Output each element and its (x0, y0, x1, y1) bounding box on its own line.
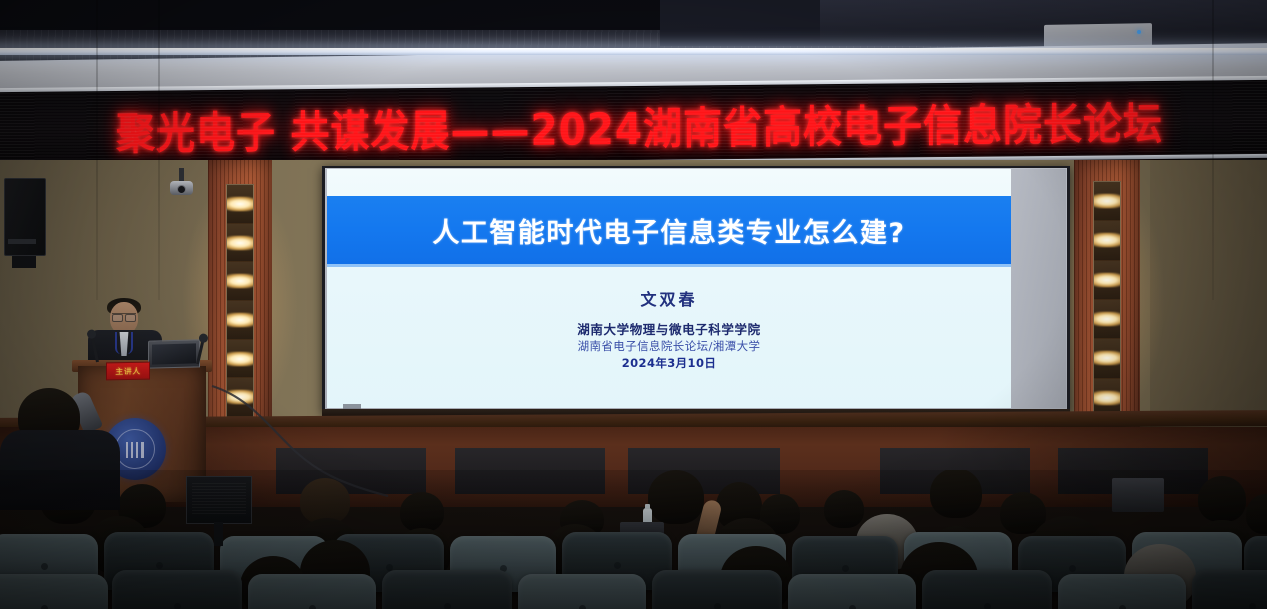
slide-title-band: 人工智能时代电子信息类专业怎么建? (327, 196, 1011, 264)
nameplate: 主讲人 (106, 362, 150, 381)
ceiling-light-strip-1 (0, 48, 1267, 55)
auditorium-seat-front (248, 574, 376, 609)
audience-head (1246, 494, 1267, 534)
auditorium-seat-front (0, 574, 108, 609)
slide-band-edge (327, 264, 1011, 267)
presentation-slide: 人工智能时代电子信息类专业怎么建? 文双春 湖南大学物理与微电子科学学院 湖南省… (327, 169, 1011, 408)
auditorium-seat-front (518, 574, 646, 609)
wall-sconce-right (1093, 181, 1121, 419)
sconce-segment (227, 224, 253, 263)
audience-head (400, 492, 444, 532)
auditorium-seat-front (1058, 574, 1186, 609)
sconce-segment (227, 262, 253, 301)
led-banner-text: 聚光电子 共谋发展——2024湖南省高校电子信息院长论坛 (116, 90, 1163, 163)
wall-seam-1 (96, 0, 98, 300)
presenter-glasses-icon (112, 313, 136, 319)
audience-head (824, 490, 864, 528)
sconce-segment (227, 301, 253, 340)
slide-date: 2024年3月10日 (327, 354, 1011, 372)
spotlight-lens-icon (177, 185, 186, 194)
auditorium-seat-front (922, 570, 1052, 609)
audience-head (930, 470, 982, 518)
sconce-segment (1094, 300, 1120, 339)
slide-title: 人工智能时代电子信息类专业怎么建? (432, 211, 905, 250)
audience-laptop-right (1112, 478, 1164, 512)
audience-head (648, 470, 704, 524)
sconce-segment (1094, 221, 1120, 260)
sconce-segment (227, 340, 253, 379)
floor-speaker-stand (214, 522, 223, 546)
sconce-segment (1094, 261, 1120, 300)
ceiling-panel-dark-1 (0, 0, 660, 30)
projection-screen-unlit-area (1011, 169, 1066, 408)
auditorium-seat-front (382, 570, 512, 609)
auditorium-seat-front (788, 574, 916, 609)
wall-seam-3 (1212, 0, 1214, 300)
sconce-segment (227, 378, 253, 417)
wall-speaker (4, 178, 46, 256)
wall-speaker-bracket (12, 256, 36, 268)
lecture-hall-photo: 聚光电子 共谋发展——2024湖南省高校电子信息院长论坛 (0, 0, 1267, 609)
sconce-segment (227, 185, 253, 224)
presenter-lanyard (115, 332, 133, 354)
auditorium-seat-front (652, 570, 782, 609)
wall-sconce-left (226, 184, 254, 418)
audience-head (1198, 476, 1246, 522)
sconce-segment (1094, 182, 1120, 221)
auditorium-seat-front (112, 570, 242, 609)
wall-seam-2 (158, 0, 160, 300)
floor-speaker (186, 476, 252, 524)
slide-affiliation-block: 湖南大学物理与微电子科学学院 湖南省电子信息院长论坛/湘潭大学 2024年3月1… (327, 321, 1011, 372)
presenter-laptop (148, 339, 200, 368)
auditorium-seat-front (1192, 570, 1267, 609)
presenter-laptop-screen (152, 343, 196, 364)
slide-affiliation-event: 湖南省电子信息院长论坛/湘潭大学 (327, 338, 1011, 354)
ceiling-spotlight-camera (166, 168, 196, 202)
slide-author: 文双春 (327, 286, 1011, 310)
sconce-segment (1094, 339, 1120, 378)
nameplate-text: 主讲人 (115, 365, 141, 376)
slide-affiliation-institution: 湖南大学物理与微电子科学学院 (327, 321, 1011, 338)
screen-label-tag (343, 404, 361, 409)
photographer-shoulders (0, 430, 120, 510)
projector-led-icon (1137, 30, 1141, 34)
